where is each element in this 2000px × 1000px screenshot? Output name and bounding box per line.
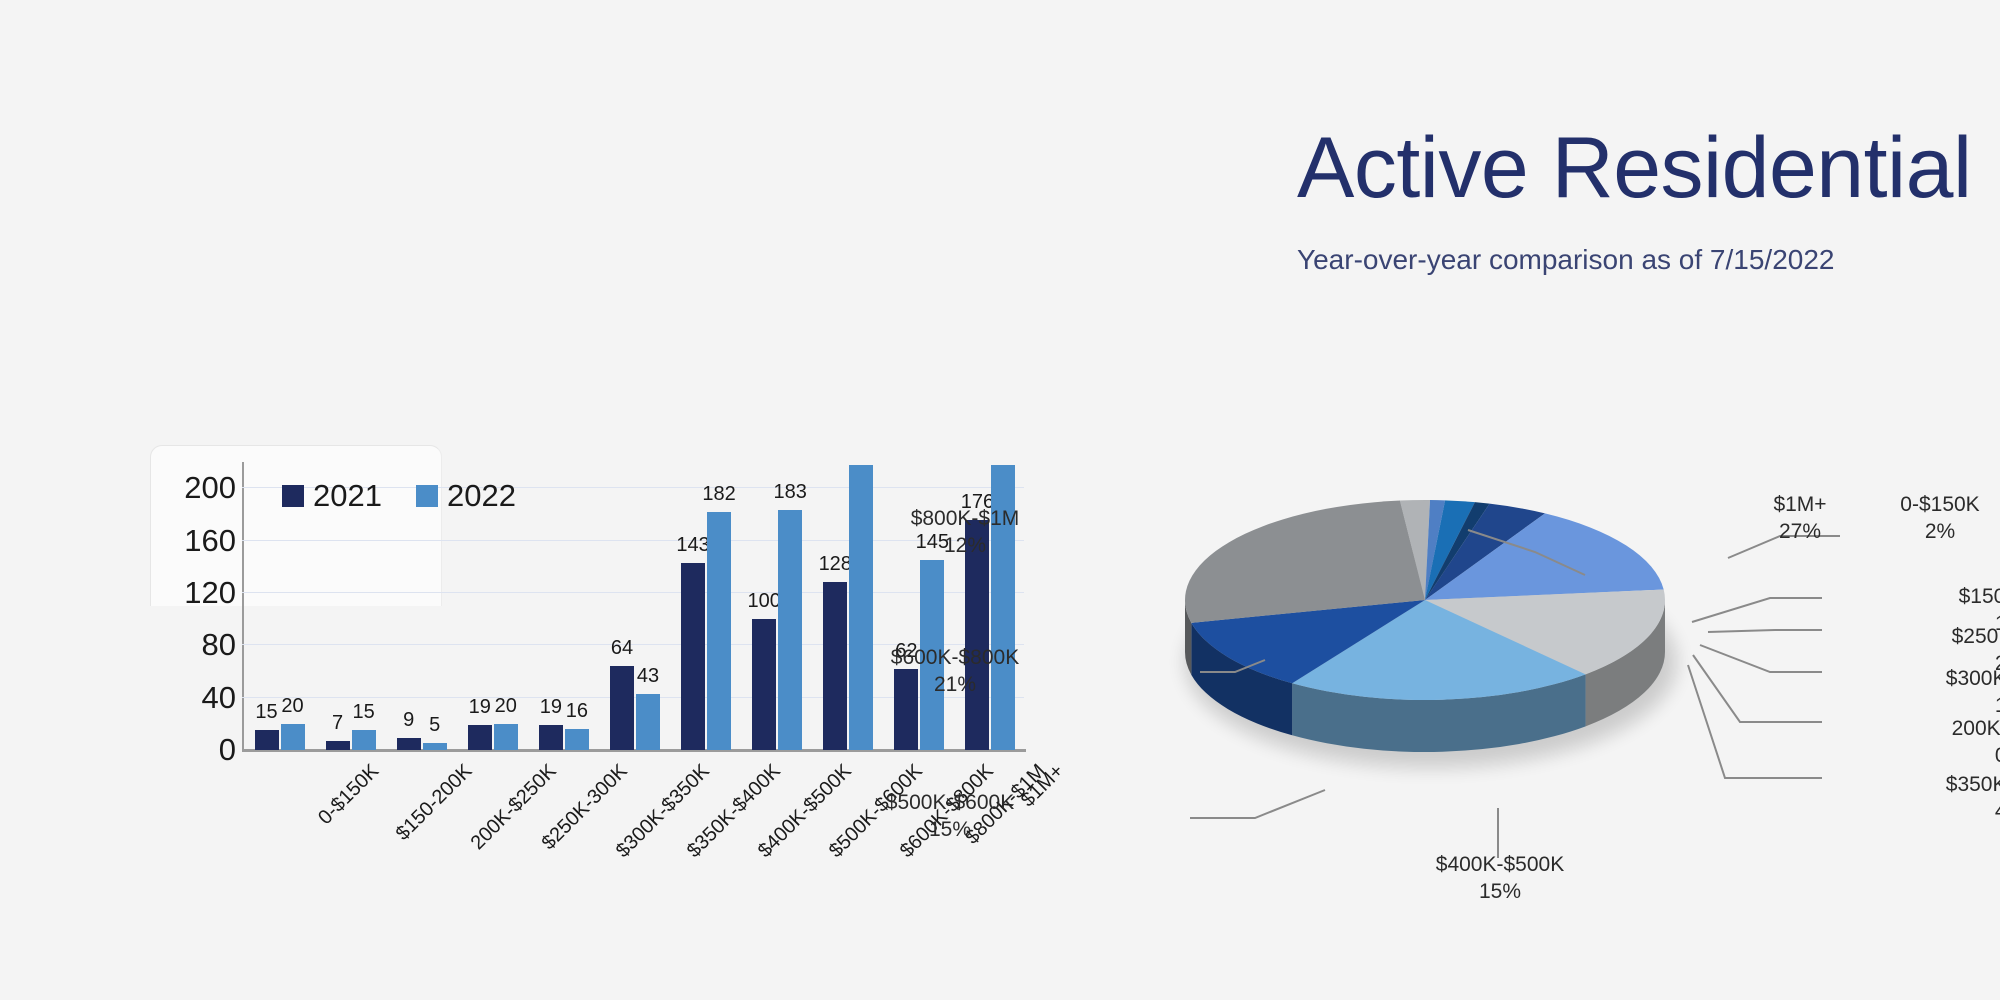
pie-label-$1M+: $1M+27%: [1740, 492, 1860, 546]
bar-value-label: 7: [332, 712, 343, 735]
bar-2022: [494, 724, 518, 750]
pie-slices: [1185, 500, 1665, 700]
pie-label-category: $1M+: [1740, 492, 1860, 519]
pie-label-category: 200K-$250K: [1920, 716, 2000, 743]
bar-value-label: 100: [747, 590, 780, 613]
leader-line: [1708, 630, 1822, 632]
bar-value-label: 182: [702, 483, 735, 506]
pie-label-0-$150K: 0-$150K2%: [1870, 492, 2000, 546]
bar-2022: [565, 729, 589, 750]
bar-value-label: 183: [773, 481, 806, 504]
pie-label-$600K-$800K: $600K-$800K21%: [855, 645, 1055, 699]
pie-label-category: $150-200K: [1920, 584, 2000, 611]
y-tick-label: 200: [146, 470, 236, 506]
pie-label-category: $400K-$500K: [1400, 852, 1600, 879]
bar-value-label: 19: [469, 696, 491, 719]
bar-value-label: 16: [566, 700, 588, 723]
x-tick-label: $150-200K: [391, 760, 476, 845]
y-tick-label: 120: [146, 575, 236, 611]
pie-label-$400K-$500K: $400K-$500K15%: [1400, 852, 1600, 906]
pie-label-percent: 21%: [855, 672, 1055, 699]
pie-label-percent: 4%: [1920, 799, 2000, 826]
pie-label-$350K-$400K: $350K-$400K4%: [1920, 772, 2000, 826]
bar-2021: [326, 741, 350, 750]
bar-2022: [281, 724, 305, 750]
pie-label-percent: 15%: [1400, 879, 1600, 906]
bar-2021: [823, 582, 847, 750]
bar-value-label: 19: [540, 696, 562, 719]
pie-label-percent: 2%: [1870, 519, 2000, 546]
bar-chart: 04080120160200 1520715951920191664431431…: [150, 430, 1070, 850]
pie-label-percent: 15%: [850, 817, 1050, 844]
bar-group: 6443: [597, 462, 668, 750]
leader-line: [1692, 598, 1822, 622]
bar-2021: [681, 563, 705, 750]
pie-label-percent: 0%: [1920, 743, 2000, 770]
bar-value-label: 15: [352, 701, 374, 724]
bar-value-label: 15: [255, 701, 277, 724]
bar-chart-legend: 20212022: [282, 478, 516, 514]
pie-label-$500K-$600K: $500K-$600K15%: [850, 790, 1050, 844]
page-title: Active Residential Listings: [1297, 125, 2000, 211]
bar-2021: [255, 730, 279, 750]
bar-value-label: 143: [676, 534, 709, 557]
pie-label-$300K-$350K: $300K-$350K1%: [1920, 666, 2000, 720]
bar-2021: [397, 738, 421, 750]
bar-value-label: 5: [429, 714, 440, 737]
bar-2022: [636, 694, 660, 750]
pie-label-category: $350K-$400K: [1920, 772, 2000, 799]
bar-2022: [707, 512, 731, 750]
y-tick-label: 80: [146, 627, 236, 663]
bar-2021: [468, 725, 492, 750]
bar-group: 1916: [526, 462, 597, 750]
bar-2022: [352, 730, 376, 750]
header: Active Residential Listings Year-over-ye…: [0, 0, 2000, 300]
pie-label-200K-$250K: 200K-$250K0%: [1920, 716, 2000, 770]
bar-2022: [778, 510, 802, 750]
leader-line: [1700, 645, 1822, 672]
page-subtitle: Year-over-year comparison as of 7/15/202…: [1297, 246, 1835, 274]
x-tick-label: 0-$150K: [314, 760, 384, 830]
y-tick-label: 160: [146, 523, 236, 559]
bar-value-label: 43: [637, 665, 659, 688]
bar-group: 143182: [669, 462, 740, 750]
bar-2021: [752, 619, 776, 750]
bar-value-label: 20: [495, 695, 517, 718]
pie-label-$800K-$1M: $800K-$1M12%: [865, 506, 1065, 560]
bar-value-label: 64: [611, 637, 633, 660]
legend-item-2021[interactable]: 2021: [282, 478, 382, 514]
legend-label: 2022: [447, 478, 516, 514]
bar-value-label: 128: [819, 553, 852, 576]
bar-value-label: 20: [281, 695, 303, 718]
pie-label-percent: 12%: [865, 533, 1065, 560]
y-tick-label: 40: [146, 680, 236, 716]
bar-group: 100183: [740, 462, 811, 750]
pie-chart: $800K-$1M12%$600K-$800K21%$500K-$600K15%…: [1080, 440, 1960, 860]
bar-value-label: 9: [403, 709, 414, 732]
bar-2021: [539, 725, 563, 750]
y-tick-label: 0: [146, 732, 236, 768]
pie-label-category: $600K-$800K: [855, 645, 1055, 672]
pie-label-category: 0-$150K: [1870, 492, 2000, 519]
bar-2021: [610, 666, 634, 750]
pie-label-category: $250K-300K: [1920, 624, 2000, 651]
leader-line: [1190, 790, 1325, 818]
pie-label-category: $500K-$600K: [850, 790, 1050, 817]
pie-label-category: $300K-$350K: [1920, 666, 2000, 693]
leader-line: [1693, 655, 1822, 722]
legend-label: 2021: [313, 478, 382, 514]
legend-swatch-icon: [416, 485, 438, 507]
bar-2022: [423, 743, 447, 750]
pie-label-category: $800K-$1M: [865, 506, 1065, 533]
legend-item-2022[interactable]: 2022: [416, 478, 516, 514]
legend-swatch-icon: [282, 485, 304, 507]
pie-label-percent: 27%: [1740, 519, 1860, 546]
